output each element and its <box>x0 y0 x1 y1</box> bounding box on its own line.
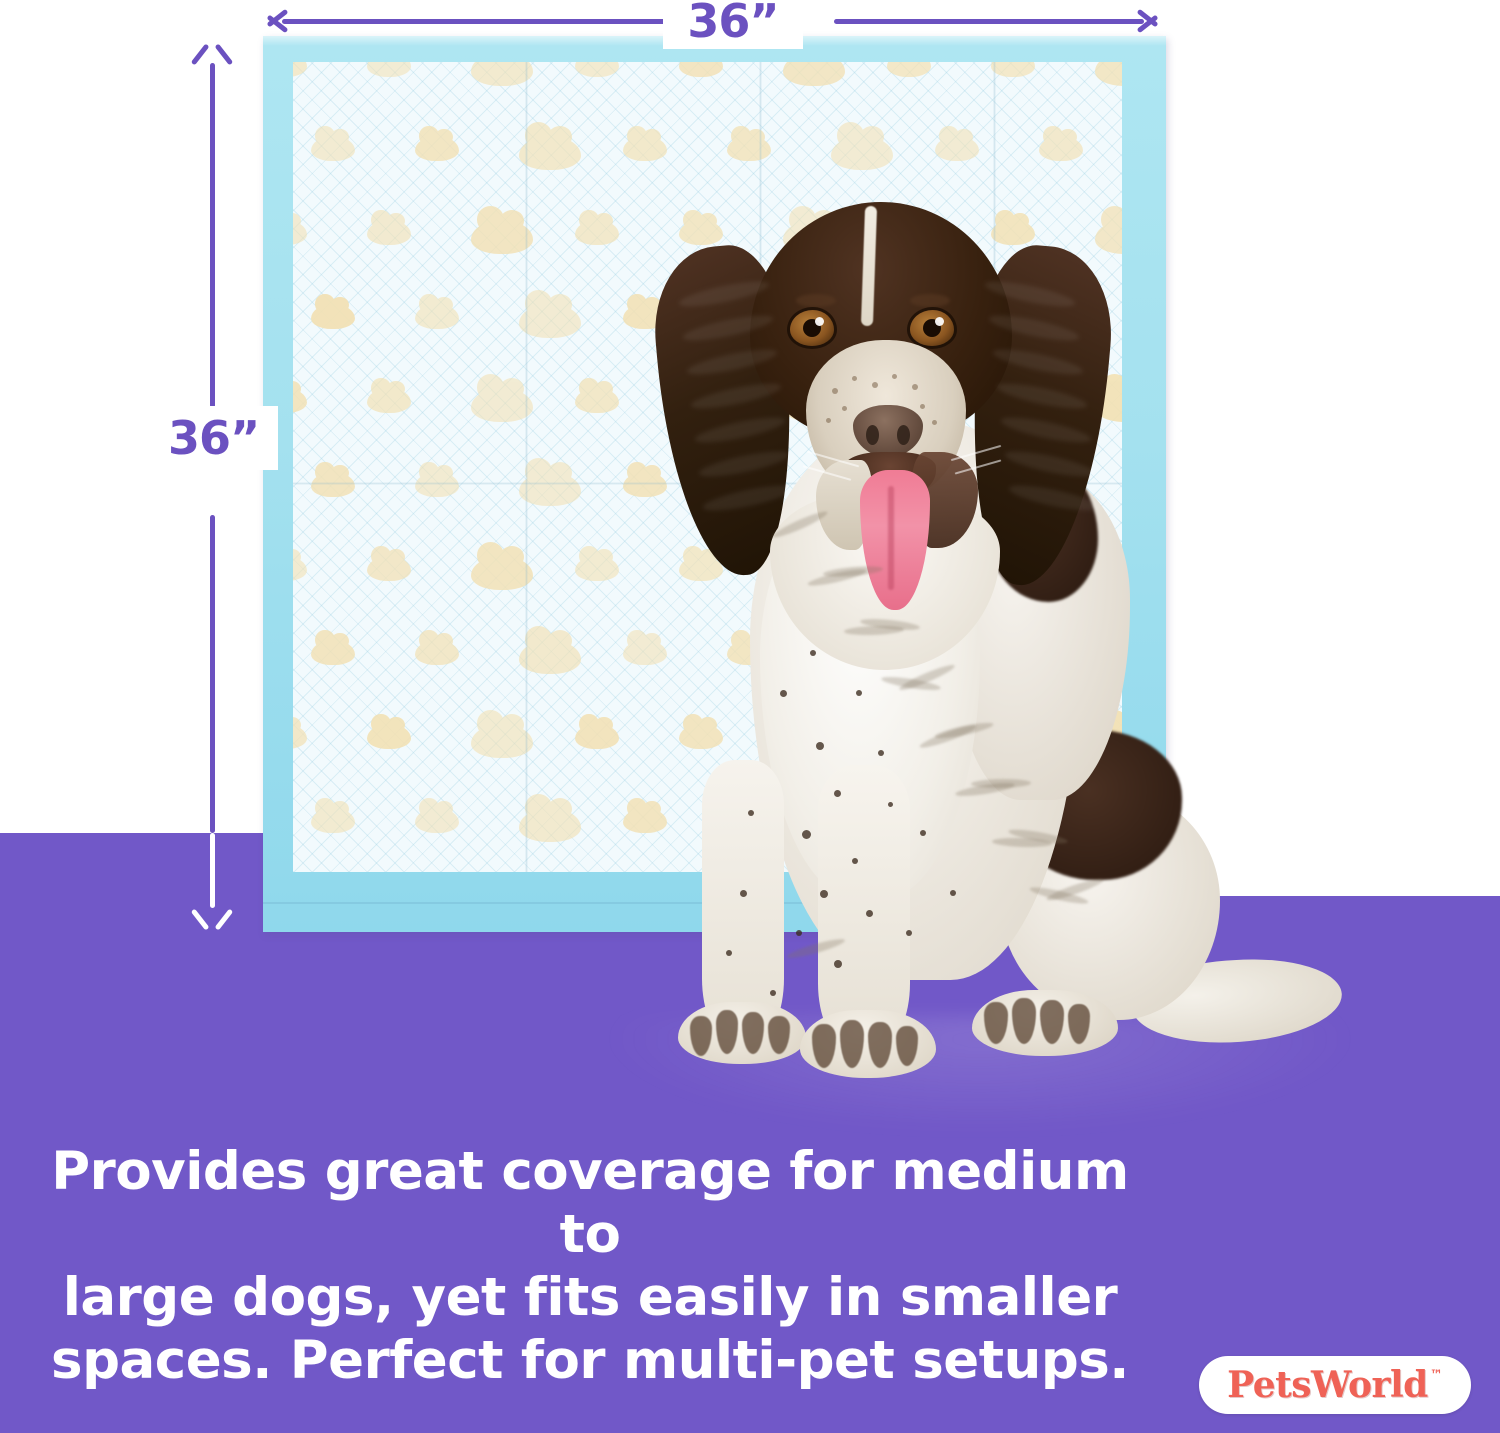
cloud-motif <box>415 304 459 329</box>
fur-streak <box>842 406 847 411</box>
brand-logo: PetsWorld ™ <box>1199 1356 1471 1414</box>
cloud-motif <box>471 62 533 86</box>
fur-streak <box>832 388 838 394</box>
cloud-motif <box>519 304 581 338</box>
cloud-motif <box>623 136 667 161</box>
arrow-right-icon <box>1133 12 1157 30</box>
width-label: 36” <box>663 0 803 49</box>
cloud-motif <box>293 388 307 413</box>
dimension-bar <box>210 63 215 408</box>
fur-speck <box>878 750 884 756</box>
dog-brow <box>796 294 836 307</box>
caption-line-2: large dogs, yet fits easily in smaller <box>0 1266 1180 1329</box>
cloud-motif <box>519 136 581 170</box>
fur-speck <box>834 790 841 797</box>
cloud-motif <box>831 136 893 170</box>
cloud-motif <box>991 62 1035 77</box>
fur-streak <box>826 418 831 423</box>
cloud-motif <box>471 388 533 422</box>
cloud-motif <box>293 556 307 581</box>
cloud-motif <box>293 724 307 749</box>
arrow-down-icon <box>203 905 222 929</box>
height-label: 36” <box>168 406 278 470</box>
cloud-motif <box>575 388 619 413</box>
cloud-motif <box>367 220 411 245</box>
cloud-motif <box>783 62 845 86</box>
cloud-motif <box>367 388 411 413</box>
fur-speck <box>802 830 811 839</box>
cloud-motif <box>1039 136 1083 161</box>
fur-speck <box>740 890 747 897</box>
dimension-bar <box>834 19 1144 24</box>
cloud-motif <box>415 808 459 833</box>
cloud-motif <box>519 472 581 506</box>
height-dimension-line <box>203 45 222 938</box>
cloud-motif <box>679 62 723 77</box>
dog-eye-glint <box>815 317 824 326</box>
cloud-motif <box>293 220 307 245</box>
cloud-motif <box>415 640 459 665</box>
fur-streak <box>912 384 918 390</box>
fur-speck <box>748 810 754 816</box>
trademark-symbol: ™ <box>1430 1368 1443 1383</box>
brand-name: PetsWorld <box>1227 1364 1428 1406</box>
fur-speck <box>810 650 816 656</box>
dog-right-eye <box>910 310 954 346</box>
product-marketing-image: 36” 36” <box>0 0 1500 1433</box>
fur-speck <box>852 858 858 864</box>
dog-front-left-leg <box>702 760 784 1040</box>
cloud-motif <box>311 136 355 161</box>
fur-speck <box>770 990 776 996</box>
fur-speck <box>906 930 912 936</box>
dog-tongue-crease <box>888 486 894 590</box>
fur-speck <box>816 742 824 750</box>
cloud-motif <box>727 136 771 161</box>
cloud-motif <box>367 724 411 749</box>
dimension-bar <box>282 19 668 24</box>
fur-streak <box>932 420 937 425</box>
cloud-motif <box>311 304 355 329</box>
dog-nostril <box>866 425 879 445</box>
dog-nostril <box>897 425 910 445</box>
caption-block: Provides great coverage for medium to la… <box>0 1140 1180 1392</box>
caption-line-1: Provides great coverage for medium to <box>0 1140 1180 1266</box>
dog-left-eye <box>790 310 834 346</box>
fur-streak <box>920 404 925 409</box>
cloud-motif <box>415 136 459 161</box>
fur-speck <box>834 960 842 968</box>
cloud-motif <box>575 724 619 749</box>
fur-speck <box>920 830 926 836</box>
fur-speck <box>856 690 862 696</box>
cloud-motif <box>311 808 355 833</box>
pad-fold-line <box>525 62 528 872</box>
fur-speck <box>780 690 787 697</box>
caption-line-3: spaces. Perfect for multi-pet setups. <box>0 1329 1180 1392</box>
dog-brow <box>910 294 950 307</box>
cloud-motif <box>367 556 411 581</box>
cloud-motif <box>471 556 533 590</box>
fur-streak <box>892 374 897 379</box>
fur-speck <box>950 890 956 896</box>
fur-speck <box>888 802 893 807</box>
fur-speck <box>726 950 732 956</box>
cloud-motif <box>1095 62 1122 86</box>
fur-streak <box>872 382 878 388</box>
cloud-motif <box>575 220 619 245</box>
fur-speck <box>796 930 802 936</box>
fur-streak <box>852 376 857 381</box>
fur-speck <box>820 890 828 898</box>
cloud-motif <box>575 62 619 77</box>
cloud-motif <box>471 220 533 254</box>
cloud-motif <box>293 62 307 77</box>
fur-speck <box>866 910 873 917</box>
cloud-motif <box>887 62 931 77</box>
cloud-motif <box>519 640 581 674</box>
cloud-motif <box>367 62 411 77</box>
dimension-bar-on-purple <box>210 833 215 908</box>
dog-front-right-leg <box>818 765 910 1045</box>
cloud-motif <box>311 640 355 665</box>
cloud-motif <box>935 136 979 161</box>
cloud-motif <box>471 724 533 758</box>
dog-photo <box>620 190 1300 1070</box>
cloud-motif <box>519 808 581 842</box>
cloud-motif <box>575 556 619 581</box>
dog-eye-glint <box>935 317 944 326</box>
dimension-bar <box>210 515 215 833</box>
